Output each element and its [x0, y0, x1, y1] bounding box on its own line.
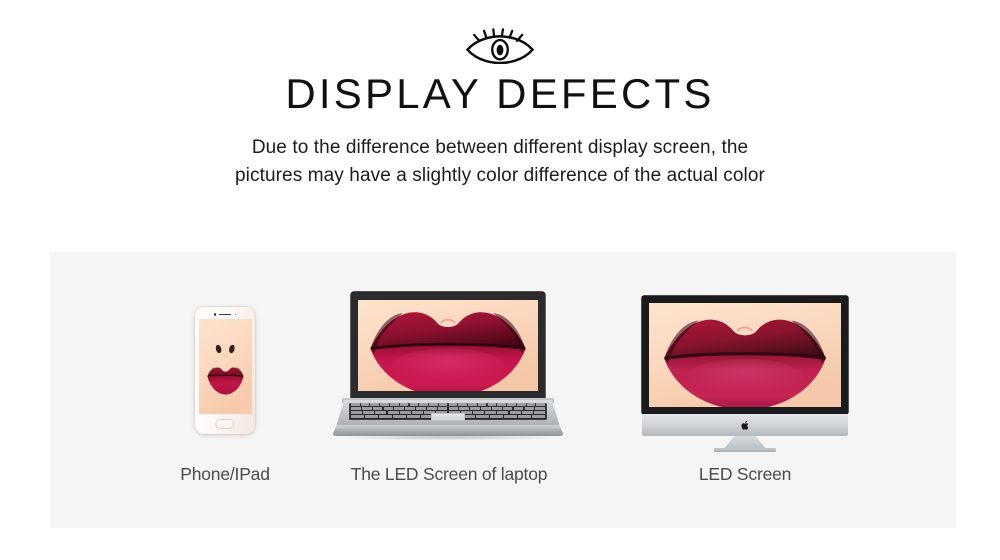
device-row: Phone/IPad: [50, 252, 956, 528]
subtitle-line-2: pictures may have a slightly color diffe…: [155, 162, 845, 190]
page-subtitle: Due to the difference between different …: [155, 134, 845, 189]
laptop-shadow: [346, 435, 550, 440]
lips-photo-laptop: [358, 300, 538, 391]
phone-home-button[interactable]: [216, 419, 235, 430]
device-showcase-panel: Phone/IPad: [50, 252, 956, 528]
device-monitor: [642, 296, 848, 452]
eye-icon: [463, 28, 537, 64]
monitor-bezel: [642, 296, 848, 414]
apple-logo-icon: [741, 420, 750, 431]
laptop-trackpad[interactable]: [431, 413, 465, 421]
laptop-screen: [358, 300, 538, 391]
monitor-chin: [642, 414, 848, 436]
subtitle-line-1: Due to the difference between different …: [155, 134, 845, 162]
device-phone: [195, 307, 255, 434]
monitor-screen: [649, 303, 841, 407]
phone-proximity-sensor-icon: [235, 314, 237, 316]
caption-monitor: LED Screen: [668, 464, 822, 485]
caption-phone: Phone/IPad: [165, 464, 285, 485]
header: DISPLAY DEFECTS Due to the difference be…: [0, 0, 1000, 189]
phone-speaker-grille: [219, 314, 231, 316]
phone-camera-icon: [214, 313, 216, 315]
phone-top-sensors: [208, 313, 242, 317]
monitor-stand-foot: [714, 448, 776, 452]
laptop-lid: [351, 292, 545, 400]
page-title: DISPLAY DEFECTS: [0, 72, 1000, 116]
caption-laptop: The LED Screen of laptop: [333, 464, 565, 485]
lips-photo-monitor: [649, 303, 841, 407]
lips-photo-phone: [199, 319, 252, 414]
phone-screen: [199, 319, 252, 414]
device-laptop: [332, 292, 564, 440]
